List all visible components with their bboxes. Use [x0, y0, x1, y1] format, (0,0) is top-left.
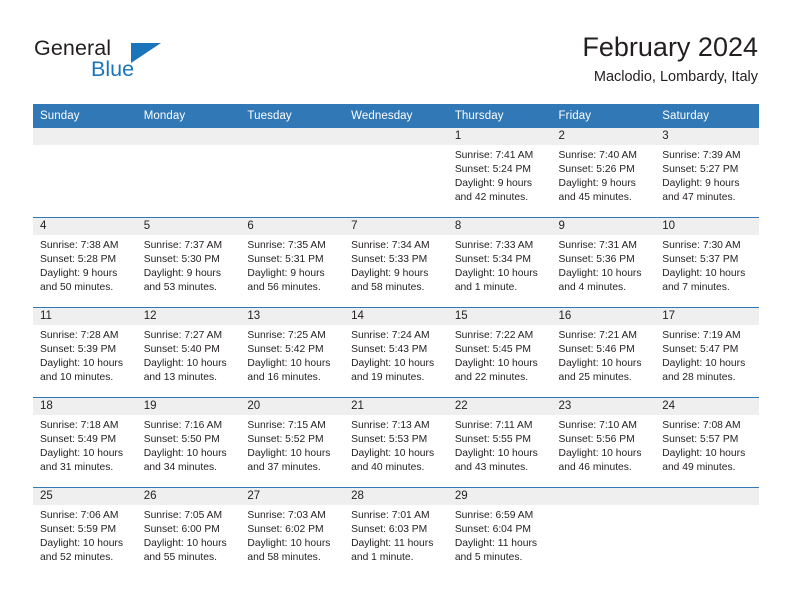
title-block: February 2024 Maclodio, Lombardy, Italy	[582, 30, 758, 88]
day-cell-23[interactable]: 23Sunrise: 7:10 AMSunset: 5:56 PMDayligh…	[552, 398, 656, 488]
day-detail-line: Sunrise: 7:38 AM	[40, 239, 130, 253]
day-cell-empty	[655, 488, 759, 578]
calendar-page: General Blue February 2024 Maclodio, Lom…	[0, 0, 792, 612]
day-details: Sunrise: 7:24 AMSunset: 5:43 PMDaylight:…	[344, 325, 448, 385]
day-cell-22[interactable]: 22Sunrise: 7:11 AMSunset: 5:55 PMDayligh…	[448, 398, 552, 488]
day-detail-line: Sunrise: 7:40 AM	[559, 149, 649, 163]
day-details	[655, 505, 759, 509]
day-details: Sunrise: 6:59 AMSunset: 6:04 PMDaylight:…	[448, 505, 552, 565]
day-detail-line: Sunset: 5:43 PM	[351, 343, 441, 357]
day-number: 10	[655, 218, 759, 235]
day-detail-line: and 53 minutes.	[144, 281, 234, 295]
day-cell-13[interactable]: 13Sunrise: 7:25 AMSunset: 5:42 PMDayligh…	[240, 308, 344, 398]
day-detail-line: and 55 minutes.	[144, 551, 234, 565]
day-number: 9	[552, 218, 656, 235]
day-detail-line: and 52 minutes.	[40, 551, 130, 565]
day-cell-14[interactable]: 14Sunrise: 7:24 AMSunset: 5:43 PMDayligh…	[344, 308, 448, 398]
day-cell-6[interactable]: 6Sunrise: 7:35 AMSunset: 5:31 PMDaylight…	[240, 218, 344, 308]
weekday-header-saturday: Saturday	[655, 104, 759, 128]
day-detail-line: and 49 minutes.	[662, 461, 752, 475]
day-detail-line: and 5 minutes.	[455, 551, 545, 565]
day-detail-line: and 56 minutes.	[247, 281, 337, 295]
day-detail-line: Sunrise: 7:24 AM	[351, 329, 441, 343]
day-detail-line: Sunrise: 7:11 AM	[455, 419, 545, 433]
day-number: 1	[448, 128, 552, 145]
day-number: 18	[33, 398, 137, 415]
day-cell-empty	[240, 128, 344, 218]
day-detail-line: Sunrise: 7:10 AM	[559, 419, 649, 433]
day-cell-2[interactable]: 2Sunrise: 7:40 AMSunset: 5:26 PMDaylight…	[552, 128, 656, 218]
day-detail-line: Sunset: 6:02 PM	[247, 523, 337, 537]
day-detail-line: Sunrise: 7:01 AM	[351, 509, 441, 523]
day-cell-19[interactable]: 19Sunrise: 7:16 AMSunset: 5:50 PMDayligh…	[137, 398, 241, 488]
day-detail-line: Daylight: 9 hours	[247, 267, 337, 281]
day-detail-line: Sunrise: 7:22 AM	[455, 329, 545, 343]
day-number: 2	[552, 128, 656, 145]
day-number: 24	[655, 398, 759, 415]
day-details: Sunrise: 7:19 AMSunset: 5:47 PMDaylight:…	[655, 325, 759, 385]
calendar-week-row: 11Sunrise: 7:28 AMSunset: 5:39 PMDayligh…	[33, 308, 759, 398]
day-details: Sunrise: 7:18 AMSunset: 5:49 PMDaylight:…	[33, 415, 137, 475]
day-number: 21	[344, 398, 448, 415]
day-cell-27[interactable]: 27Sunrise: 7:03 AMSunset: 6:02 PMDayligh…	[240, 488, 344, 578]
day-number: 19	[137, 398, 241, 415]
day-detail-line: Sunrise: 7:15 AM	[247, 419, 337, 433]
day-detail-line: Daylight: 10 hours	[144, 447, 234, 461]
day-details: Sunrise: 7:10 AMSunset: 5:56 PMDaylight:…	[552, 415, 656, 475]
day-number	[655, 488, 759, 505]
day-number	[240, 128, 344, 145]
day-detail-line: and 31 minutes.	[40, 461, 130, 475]
day-cell-9[interactable]: 9Sunrise: 7:31 AMSunset: 5:36 PMDaylight…	[552, 218, 656, 308]
day-number: 23	[552, 398, 656, 415]
day-detail-line: Sunrise: 7:39 AM	[662, 149, 752, 163]
day-detail-line: and 4 minutes.	[559, 281, 649, 295]
day-detail-line: Daylight: 10 hours	[351, 447, 441, 461]
weekday-header-wednesday: Wednesday	[344, 104, 448, 128]
day-cell-4[interactable]: 4Sunrise: 7:38 AMSunset: 5:28 PMDaylight…	[33, 218, 137, 308]
day-detail-line: Daylight: 9 hours	[40, 267, 130, 281]
day-detail-line: Sunset: 5:33 PM	[351, 253, 441, 267]
day-detail-line: Daylight: 10 hours	[247, 357, 337, 371]
day-detail-line: Sunset: 6:00 PM	[144, 523, 234, 537]
day-detail-line: Daylight: 9 hours	[455, 177, 545, 191]
day-detail-line: Sunset: 5:46 PM	[559, 343, 649, 357]
day-detail-line: Sunset: 5:34 PM	[455, 253, 545, 267]
page-header: General Blue February 2024 Maclodio, Lom…	[0, 0, 792, 96]
day-detail-line: Sunrise: 7:31 AM	[559, 239, 649, 253]
day-number: 16	[552, 308, 656, 325]
day-number	[552, 488, 656, 505]
day-detail-line: Daylight: 9 hours	[351, 267, 441, 281]
day-details: Sunrise: 7:39 AMSunset: 5:27 PMDaylight:…	[655, 145, 759, 205]
page-subtitle-location: Maclodio, Lombardy, Italy	[582, 66, 758, 88]
weekday-header-monday: Monday	[137, 104, 241, 128]
day-detail-line: Sunrise: 7:13 AM	[351, 419, 441, 433]
day-details	[552, 505, 656, 509]
day-detail-line: Sunset: 5:55 PM	[455, 433, 545, 447]
day-detail-line: Daylight: 10 hours	[559, 357, 649, 371]
day-detail-line: and 28 minutes.	[662, 371, 752, 385]
day-detail-line: Sunrise: 7:41 AM	[455, 149, 545, 163]
day-number: 13	[240, 308, 344, 325]
day-detail-line: Sunrise: 7:03 AM	[247, 509, 337, 523]
day-detail-line: and 46 minutes.	[559, 461, 649, 475]
day-detail-line: Sunrise: 7:08 AM	[662, 419, 752, 433]
day-details: Sunrise: 7:28 AMSunset: 5:39 PMDaylight:…	[33, 325, 137, 385]
day-number: 12	[137, 308, 241, 325]
day-detail-line: and 19 minutes.	[351, 371, 441, 385]
day-cell-20[interactable]: 20Sunrise: 7:15 AMSunset: 5:52 PMDayligh…	[240, 398, 344, 488]
day-detail-line: Sunset: 5:50 PM	[144, 433, 234, 447]
day-detail-line: Daylight: 10 hours	[247, 537, 337, 551]
day-details: Sunrise: 7:08 AMSunset: 5:57 PMDaylight:…	[655, 415, 759, 475]
day-details: Sunrise: 7:16 AMSunset: 5:50 PMDaylight:…	[137, 415, 241, 475]
day-cell-empty	[33, 128, 137, 218]
day-number: 29	[448, 488, 552, 505]
day-number: 17	[655, 308, 759, 325]
day-details: Sunrise: 7:35 AMSunset: 5:31 PMDaylight:…	[240, 235, 344, 295]
day-cell-16[interactable]: 16Sunrise: 7:21 AMSunset: 5:46 PMDayligh…	[552, 308, 656, 398]
day-details: Sunrise: 7:25 AMSunset: 5:42 PMDaylight:…	[240, 325, 344, 385]
day-detail-line: Daylight: 10 hours	[559, 267, 649, 281]
day-detail-line: Sunrise: 7:37 AM	[144, 239, 234, 253]
day-cell-25[interactable]: 25Sunrise: 7:06 AMSunset: 5:59 PMDayligh…	[33, 488, 137, 578]
day-detail-line: Sunset: 5:49 PM	[40, 433, 130, 447]
day-cell-29[interactable]: 29Sunrise: 6:59 AMSunset: 6:04 PMDayligh…	[448, 488, 552, 578]
day-details: Sunrise: 7:15 AMSunset: 5:52 PMDaylight:…	[240, 415, 344, 475]
day-detail-line: Daylight: 11 hours	[351, 537, 441, 551]
day-details: Sunrise: 7:13 AMSunset: 5:53 PMDaylight:…	[344, 415, 448, 475]
day-details: Sunrise: 7:40 AMSunset: 5:26 PMDaylight:…	[552, 145, 656, 205]
day-details: Sunrise: 7:22 AMSunset: 5:45 PMDaylight:…	[448, 325, 552, 385]
day-detail-line: and 22 minutes.	[455, 371, 545, 385]
day-detail-line: Sunrise: 7:06 AM	[40, 509, 130, 523]
day-cell-7[interactable]: 7Sunrise: 7:34 AMSunset: 5:33 PMDaylight…	[344, 218, 448, 308]
day-detail-line: Sunset: 5:36 PM	[559, 253, 649, 267]
day-detail-line: Daylight: 10 hours	[144, 537, 234, 551]
day-number: 8	[448, 218, 552, 235]
day-cell-15[interactable]: 15Sunrise: 7:22 AMSunset: 5:45 PMDayligh…	[448, 308, 552, 398]
day-detail-line: Sunrise: 7:35 AM	[247, 239, 337, 253]
day-cell-1[interactable]: 1Sunrise: 7:41 AMSunset: 5:24 PMDaylight…	[448, 128, 552, 218]
day-detail-line: Sunset: 5:37 PM	[662, 253, 752, 267]
day-cell-17[interactable]: 17Sunrise: 7:19 AMSunset: 5:47 PMDayligh…	[655, 308, 759, 398]
day-details: Sunrise: 7:21 AMSunset: 5:46 PMDaylight:…	[552, 325, 656, 385]
day-detail-line: Sunrise: 7:33 AM	[455, 239, 545, 253]
day-details: Sunrise: 7:06 AMSunset: 5:59 PMDaylight:…	[33, 505, 137, 565]
day-detail-line: Sunrise: 7:30 AM	[662, 239, 752, 253]
weekday-header-friday: Friday	[552, 104, 656, 128]
day-cell-18[interactable]: 18Sunrise: 7:18 AMSunset: 5:49 PMDayligh…	[33, 398, 137, 488]
day-detail-line: Daylight: 10 hours	[40, 447, 130, 461]
day-cell-5[interactable]: 5Sunrise: 7:37 AMSunset: 5:30 PMDaylight…	[137, 218, 241, 308]
day-cell-3[interactable]: 3Sunrise: 7:39 AMSunset: 5:27 PMDaylight…	[655, 128, 759, 218]
day-details: Sunrise: 7:31 AMSunset: 5:36 PMDaylight:…	[552, 235, 656, 295]
day-number: 7	[344, 218, 448, 235]
day-detail-line: Sunset: 5:24 PM	[455, 163, 545, 177]
calendar-week-row: 18Sunrise: 7:18 AMSunset: 5:49 PMDayligh…	[33, 398, 759, 488]
day-detail-line: Daylight: 10 hours	[559, 447, 649, 461]
day-detail-line: Sunrise: 7:27 AM	[144, 329, 234, 343]
day-details: Sunrise: 7:33 AMSunset: 5:34 PMDaylight:…	[448, 235, 552, 295]
day-number: 20	[240, 398, 344, 415]
day-number: 14	[344, 308, 448, 325]
day-number: 6	[240, 218, 344, 235]
day-detail-line: and 25 minutes.	[559, 371, 649, 385]
day-cell-empty	[344, 128, 448, 218]
day-cell-11[interactable]: 11Sunrise: 7:28 AMSunset: 5:39 PMDayligh…	[33, 308, 137, 398]
weekday-header-sunday: Sunday	[33, 104, 137, 128]
day-detail-line: Daylight: 10 hours	[662, 447, 752, 461]
day-detail-line: Sunrise: 6:59 AM	[455, 509, 545, 523]
day-cell-24[interactable]: 24Sunrise: 7:08 AMSunset: 5:57 PMDayligh…	[655, 398, 759, 488]
day-detail-line: Daylight: 10 hours	[455, 267, 545, 281]
day-detail-line: Sunset: 5:40 PM	[144, 343, 234, 357]
day-detail-line: and 16 minutes.	[247, 371, 337, 385]
day-number: 15	[448, 308, 552, 325]
day-cell-empty	[552, 488, 656, 578]
day-detail-line: Sunset: 5:28 PM	[40, 253, 130, 267]
day-detail-line: Sunrise: 7:25 AM	[247, 329, 337, 343]
day-detail-line: and 37 minutes.	[247, 461, 337, 475]
day-details	[344, 145, 448, 149]
day-detail-line: Sunset: 5:30 PM	[144, 253, 234, 267]
day-details: Sunrise: 7:03 AMSunset: 6:02 PMDaylight:…	[240, 505, 344, 565]
day-detail-line: and 43 minutes.	[455, 461, 545, 475]
day-detail-line: and 42 minutes.	[455, 191, 545, 205]
calendar-week-row: 4Sunrise: 7:38 AMSunset: 5:28 PMDaylight…	[33, 218, 759, 308]
day-number: 26	[137, 488, 241, 505]
day-detail-line: Sunset: 5:42 PM	[247, 343, 337, 357]
day-detail-line: and 1 minute.	[351, 551, 441, 565]
day-number: 28	[344, 488, 448, 505]
day-details	[33, 145, 137, 149]
day-cell-12[interactable]: 12Sunrise: 7:27 AMSunset: 5:40 PMDayligh…	[137, 308, 241, 398]
day-details	[137, 145, 241, 149]
day-cell-empty	[137, 128, 241, 218]
day-number: 25	[33, 488, 137, 505]
day-detail-line: Sunrise: 7:19 AM	[662, 329, 752, 343]
day-detail-line: and 58 minutes.	[351, 281, 441, 295]
day-detail-line: Daylight: 9 hours	[559, 177, 649, 191]
day-details: Sunrise: 7:41 AMSunset: 5:24 PMDaylight:…	[448, 145, 552, 205]
calendar-week-row: 1Sunrise: 7:41 AMSunset: 5:24 PMDaylight…	[33, 128, 759, 218]
weekday-header-tuesday: Tuesday	[240, 104, 344, 128]
day-detail-line: Sunset: 5:59 PM	[40, 523, 130, 537]
day-detail-line: Daylight: 10 hours	[455, 357, 545, 371]
day-number: 5	[137, 218, 241, 235]
day-number	[344, 128, 448, 145]
day-detail-line: Sunset: 5:27 PM	[662, 163, 752, 177]
day-detail-line: Sunset: 6:04 PM	[455, 523, 545, 537]
day-detail-line: Sunset: 5:53 PM	[351, 433, 441, 447]
day-detail-line: Daylight: 10 hours	[351, 357, 441, 371]
day-detail-line: Daylight: 10 hours	[40, 537, 130, 551]
day-detail-line: Daylight: 9 hours	[662, 177, 752, 191]
day-number: 4	[33, 218, 137, 235]
day-cell-21[interactable]: 21Sunrise: 7:13 AMSunset: 5:53 PMDayligh…	[344, 398, 448, 488]
day-cell-10[interactable]: 10Sunrise: 7:30 AMSunset: 5:37 PMDayligh…	[655, 218, 759, 308]
day-detail-line: Daylight: 10 hours	[455, 447, 545, 461]
day-detail-line: Sunrise: 7:18 AM	[40, 419, 130, 433]
day-detail-line: Sunrise: 7:28 AM	[40, 329, 130, 343]
day-cell-26[interactable]: 26Sunrise: 7:05 AMSunset: 6:00 PMDayligh…	[137, 488, 241, 578]
day-number: 11	[33, 308, 137, 325]
day-detail-line: Sunset: 5:56 PM	[559, 433, 649, 447]
calendar-week-row: 25Sunrise: 7:06 AMSunset: 5:59 PMDayligh…	[33, 488, 759, 578]
day-detail-line: Sunrise: 7:05 AM	[144, 509, 234, 523]
general-blue-logo[interactable]: General Blue	[34, 36, 274, 92]
day-detail-line: Daylight: 10 hours	[662, 357, 752, 371]
day-detail-line: Sunset: 6:03 PM	[351, 523, 441, 537]
day-detail-line: and 58 minutes.	[247, 551, 337, 565]
calendar-weekday-header-row: SundayMondayTuesdayWednesdayThursdayFrid…	[33, 104, 759, 128]
day-detail-line: and 7 minutes.	[662, 281, 752, 295]
calendar-grid: SundayMondayTuesdayWednesdayThursdayFrid…	[33, 104, 759, 577]
page-title: February 2024	[582, 30, 758, 64]
weekday-header-thursday: Thursday	[448, 104, 552, 128]
day-number	[33, 128, 137, 145]
day-number: 22	[448, 398, 552, 415]
day-detail-line: and 40 minutes.	[351, 461, 441, 475]
day-detail-line: Sunset: 5:31 PM	[247, 253, 337, 267]
day-detail-line: Daylight: 10 hours	[662, 267, 752, 281]
day-cell-28[interactable]: 28Sunrise: 7:01 AMSunset: 6:03 PMDayligh…	[344, 488, 448, 578]
day-detail-line: Sunrise: 7:21 AM	[559, 329, 649, 343]
calendar-table: SundayMondayTuesdayWednesdayThursdayFrid…	[33, 104, 759, 577]
day-detail-line: and 10 minutes.	[40, 371, 130, 385]
day-number	[137, 128, 241, 145]
day-details: Sunrise: 7:27 AMSunset: 5:40 PMDaylight:…	[137, 325, 241, 385]
day-details: Sunrise: 7:30 AMSunset: 5:37 PMDaylight:…	[655, 235, 759, 295]
day-detail-line: and 47 minutes.	[662, 191, 752, 205]
day-detail-line: and 13 minutes.	[144, 371, 234, 385]
general-blue-triangle-logo-icon	[131, 43, 161, 63]
day-detail-line: Sunrise: 7:34 AM	[351, 239, 441, 253]
day-detail-line: Daylight: 10 hours	[247, 447, 337, 461]
day-detail-line: Sunset: 5:45 PM	[455, 343, 545, 357]
day-detail-line: Sunset: 5:57 PM	[662, 433, 752, 447]
day-detail-line: and 34 minutes.	[144, 461, 234, 475]
day-detail-line: Sunset: 5:47 PM	[662, 343, 752, 357]
day-details: Sunrise: 7:34 AMSunset: 5:33 PMDaylight:…	[344, 235, 448, 295]
day-detail-line: and 45 minutes.	[559, 191, 649, 205]
day-detail-line: Sunset: 5:26 PM	[559, 163, 649, 177]
day-number: 3	[655, 128, 759, 145]
day-details	[240, 145, 344, 149]
day-detail-line: Daylight: 9 hours	[144, 267, 234, 281]
day-details: Sunrise: 7:38 AMSunset: 5:28 PMDaylight:…	[33, 235, 137, 295]
day-detail-line: Sunset: 5:52 PM	[247, 433, 337, 447]
day-detail-line: Daylight: 10 hours	[40, 357, 130, 371]
day-number: 27	[240, 488, 344, 505]
brand-name-blue: Blue	[91, 57, 134, 82]
day-cell-8[interactable]: 8Sunrise: 7:33 AMSunset: 5:34 PMDaylight…	[448, 218, 552, 308]
day-detail-line: and 1 minute.	[455, 281, 545, 295]
day-detail-line: Daylight: 10 hours	[144, 357, 234, 371]
day-detail-line: Sunrise: 7:16 AM	[144, 419, 234, 433]
day-details: Sunrise: 7:01 AMSunset: 6:03 PMDaylight:…	[344, 505, 448, 565]
day-details: Sunrise: 7:11 AMSunset: 5:55 PMDaylight:…	[448, 415, 552, 475]
day-detail-line: Sunset: 5:39 PM	[40, 343, 130, 357]
day-details: Sunrise: 7:05 AMSunset: 6:00 PMDaylight:…	[137, 505, 241, 565]
calendar-body: 1Sunrise: 7:41 AMSunset: 5:24 PMDaylight…	[33, 128, 759, 577]
day-detail-line: and 50 minutes.	[40, 281, 130, 295]
day-detail-line: Daylight: 11 hours	[455, 537, 545, 551]
day-details: Sunrise: 7:37 AMSunset: 5:30 PMDaylight:…	[137, 235, 241, 295]
